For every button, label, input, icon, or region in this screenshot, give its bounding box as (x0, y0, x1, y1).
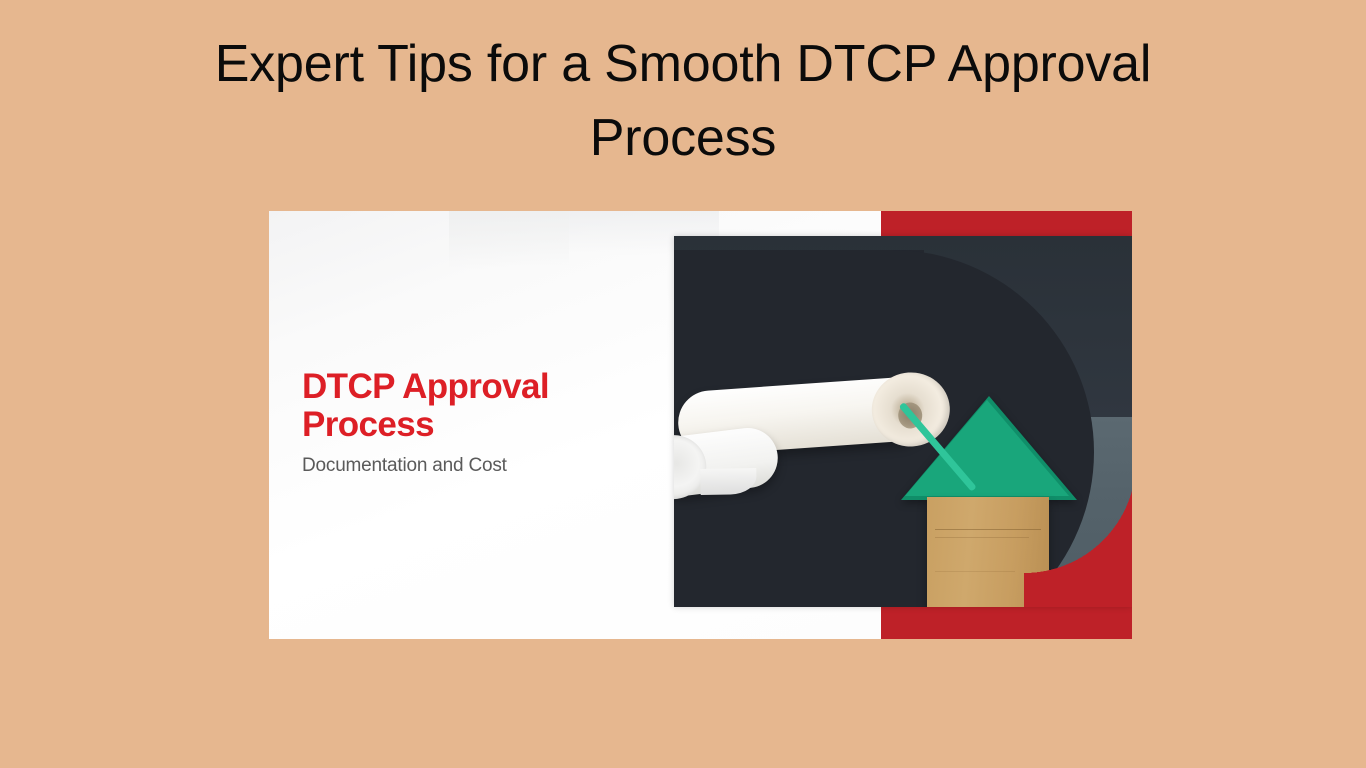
house-grain-line (935, 537, 1029, 538)
blueprint-house-photo (674, 236, 1132, 607)
red-corner-sweep (1024, 461, 1132, 607)
page-title: Expert Tips for a Smooth DTCP Approval P… (0, 28, 1366, 176)
featured-image: DTCP Approval Process Documentation and … (269, 211, 1132, 639)
promo-title: DTCP Approval Process (302, 368, 632, 444)
promo-subtitle: Documentation and Cost (302, 455, 632, 478)
promo-text-block: DTCP Approval Process Documentation and … (302, 368, 632, 477)
house-grain-line (935, 571, 1015, 572)
